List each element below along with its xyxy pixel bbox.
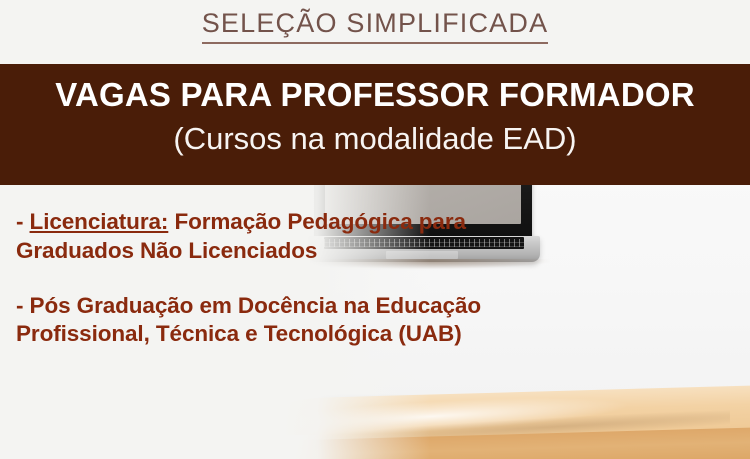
wooden-desk <box>280 399 750 459</box>
desk-corner-fade <box>280 435 330 459</box>
kicker-heading: SELEÇÃO SIMPLIFICADA <box>0 8 750 44</box>
bullet-dash: - <box>16 209 30 234</box>
bullet-dash: - <box>16 293 30 318</box>
desk-highlight <box>300 390 630 438</box>
desk-contact-shadow <box>290 408 730 451</box>
desk-surface <box>280 385 750 447</box>
course-list: - Licenciatura: Formação Pedagógica para… <box>16 208 536 349</box>
bullet-text: Pós Graduação em Docência na Educação Pr… <box>16 293 481 347</box>
kicker-text: SELEÇÃO SIMPLIFICADA <box>202 8 549 44</box>
title-banner: VAGAS PARA PROFESSOR FORMADOR (Cursos na… <box>0 64 750 185</box>
banner-subtitle: (Cursos na modalidade EAD) <box>0 120 750 157</box>
banner-title: VAGAS PARA PROFESSOR FORMADOR <box>0 77 750 114</box>
bullet-emphasis: Licenciatura: <box>30 209 169 234</box>
list-item: - Licenciatura: Formação Pedagógica para… <box>16 208 536 266</box>
wall-desk-seam <box>280 394 750 406</box>
desk-front-edge <box>280 427 750 459</box>
poster-canvas: SELEÇÃO SIMPLIFICADA VAGAS PARA PROFESSO… <box>0 0 750 459</box>
list-item: - Pós Graduação em Docência na Educação … <box>16 292 536 350</box>
